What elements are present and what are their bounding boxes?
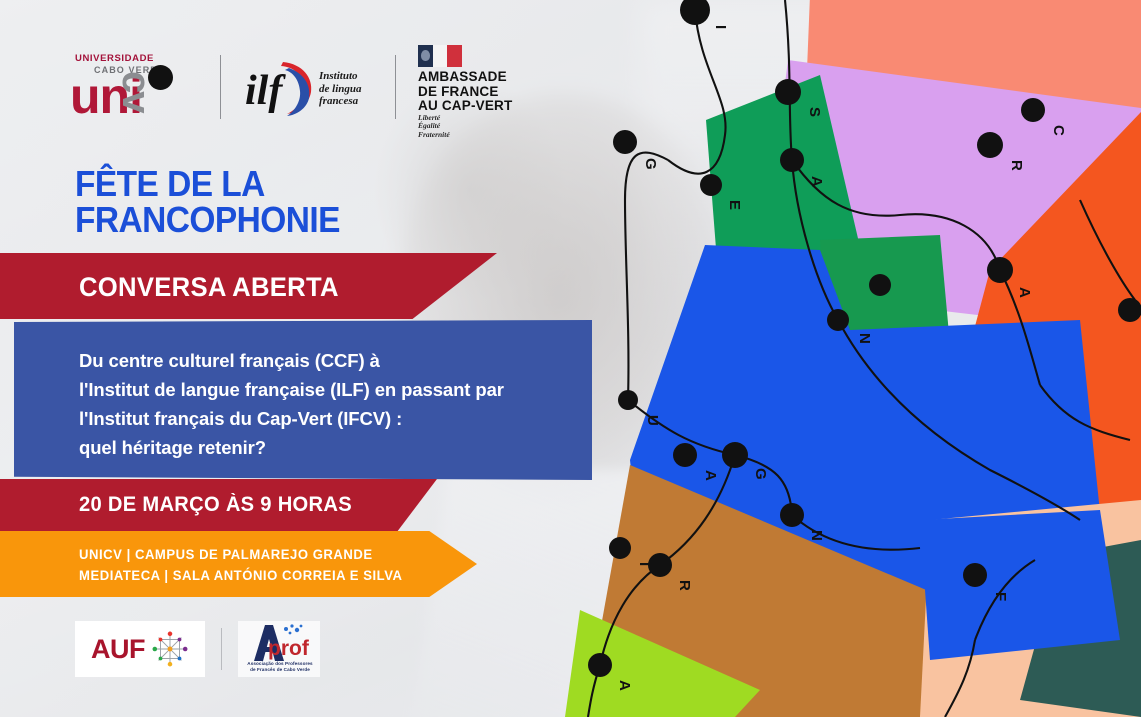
ilf-tagline-line3: francesa — [319, 95, 361, 108]
ambassade-line1: AMBASSADE — [418, 70, 512, 85]
topic-text: Du centre culturel français (CCF) à l'In… — [79, 346, 572, 462]
logo-ambassade-de-france[interactable]: AMBASSADE DE FRANCE AU CAP-VERT Liberté … — [418, 45, 518, 129]
event-type-label: CONVERSA ABERTA — [79, 272, 339, 303]
event-type-banner: CONVERSA ABERTA — [0, 253, 497, 319]
ambassade-line2: DE FRANCE — [418, 85, 512, 100]
poster-headline: FÊTE DE LA FRANCOPHONIE — [75, 166, 340, 238]
svg-text:G: G — [752, 468, 769, 480]
footer-logos: AUF prof — [75, 621, 320, 677]
svg-text:N: N — [856, 333, 873, 344]
ilf-tagline: Instituto de lingua francesa — [319, 70, 361, 108]
ilf-swoosh-icon: ilf — [243, 54, 323, 118]
svg-text:A: A — [808, 176, 825, 187]
aprof-caption: Associação dos Professores de Francês de… — [241, 661, 319, 672]
logo-divider-1 — [220, 55, 221, 119]
aprof-mark-icon: prof — [238, 621, 320, 663]
svg-text:I: I — [712, 25, 729, 29]
svg-text:G: G — [642, 158, 659, 170]
ilf-tagline-line1: Instituto — [319, 70, 361, 83]
ilf-tagline-line2: de lingua — [319, 83, 361, 96]
datetime-banner: 20 DE MARÇO ÀS 9 HORAS — [0, 479, 437, 531]
unicv-cv-wordmark: cv — [116, 71, 156, 112]
headline-line-2: FRANCOPHONIE — [75, 202, 340, 238]
decorative-polygon-network-graphic: I S G A E U G A A N N R A F C R A I — [520, 0, 1141, 717]
datetime-label: 20 DE MARÇO ÀS 9 HORAS — [79, 493, 352, 517]
svg-text:R: R — [676, 580, 693, 591]
topic-line-3: l'Institut français du Cap-Vert (IFCV) : — [79, 404, 572, 433]
auf-wordmark: AUF — [91, 636, 145, 663]
ambassade-motto: Liberté Égalité Fraternité — [418, 114, 450, 139]
svg-text:S: S — [806, 107, 823, 117]
svg-text:A: A — [616, 680, 633, 691]
svg-text:E: E — [726, 200, 743, 210]
aprof-caption-line2: de Francês de Cabo Verde — [241, 667, 319, 673]
svg-text:A: A — [702, 470, 719, 481]
motto-fraternite: Fraternité — [418, 131, 450, 139]
svg-text:ilf: ilf — [245, 68, 286, 114]
svg-text:prof: prof — [268, 637, 310, 660]
headline-line-1: FÊTE DE LA — [75, 166, 340, 202]
topic-line-1: Du centre culturel français (CCF) à — [79, 346, 572, 375]
svg-text:N: N — [808, 530, 825, 541]
topic-line-4: quel héritage retenir? — [79, 433, 572, 462]
venue-line-2: MEDIATECA | SALA ANTÓNIO CORREIA E SILVA — [79, 565, 403, 586]
logo-ilf[interactable]: ilf Instituto de lingua francesa — [243, 50, 373, 124]
footer-logo-divider — [221, 628, 222, 670]
svg-text:I: I — [636, 562, 653, 566]
logo-divider-2 — [395, 55, 396, 119]
svg-text:F: F — [992, 592, 1009, 601]
svg-text:R: R — [1008, 160, 1025, 171]
logo-auf[interactable]: AUF — [75, 621, 205, 677]
topic-panel: Du centre culturel français (CCF) à l'In… — [14, 320, 592, 480]
ambassade-line3: AU CAP-VERT — [418, 99, 512, 114]
poster-canvas: I S G A E U G A A N N R A F C R A I — [0, 0, 1141, 717]
venue-banner: UNICV | CAMPUS DE PALMAREJO GRANDE MEDIA… — [0, 531, 477, 597]
french-flag-icon — [418, 45, 462, 67]
ambassade-title: AMBASSADE DE FRANCE AU CAP-VERT — [418, 70, 512, 114]
venue-text: UNICV | CAMPUS DE PALMAREJO GRANDE MEDIA… — [79, 544, 403, 586]
logo-unicv[interactable]: UNIVERSIDADE CABO VERDE uni cv — [70, 51, 198, 123]
aprof-caption-line1: Associação dos Professores — [241, 661, 319, 667]
svg-text:U: U — [644, 415, 661, 426]
venue-line-1: UNICV | CAMPUS DE PALMAREJO GRANDE — [79, 544, 403, 565]
svg-text:A: A — [1016, 287, 1033, 298]
partner-logos-header: UNIVERSIDADE CABO VERDE uni cv ilf Insti… — [70, 48, 518, 126]
svg-text:C: C — [1050, 125, 1067, 136]
logo-aprof[interactable]: prof Associação dos Professores de Franc… — [238, 621, 320, 677]
auf-network-icon — [151, 630, 189, 668]
topic-line-2: l'Institut de langue française (ILF) en … — [79, 375, 572, 404]
polygon-blue-lower — [920, 510, 1120, 660]
unicv-universidade-text: UNIVERSIDADE — [75, 53, 154, 64]
